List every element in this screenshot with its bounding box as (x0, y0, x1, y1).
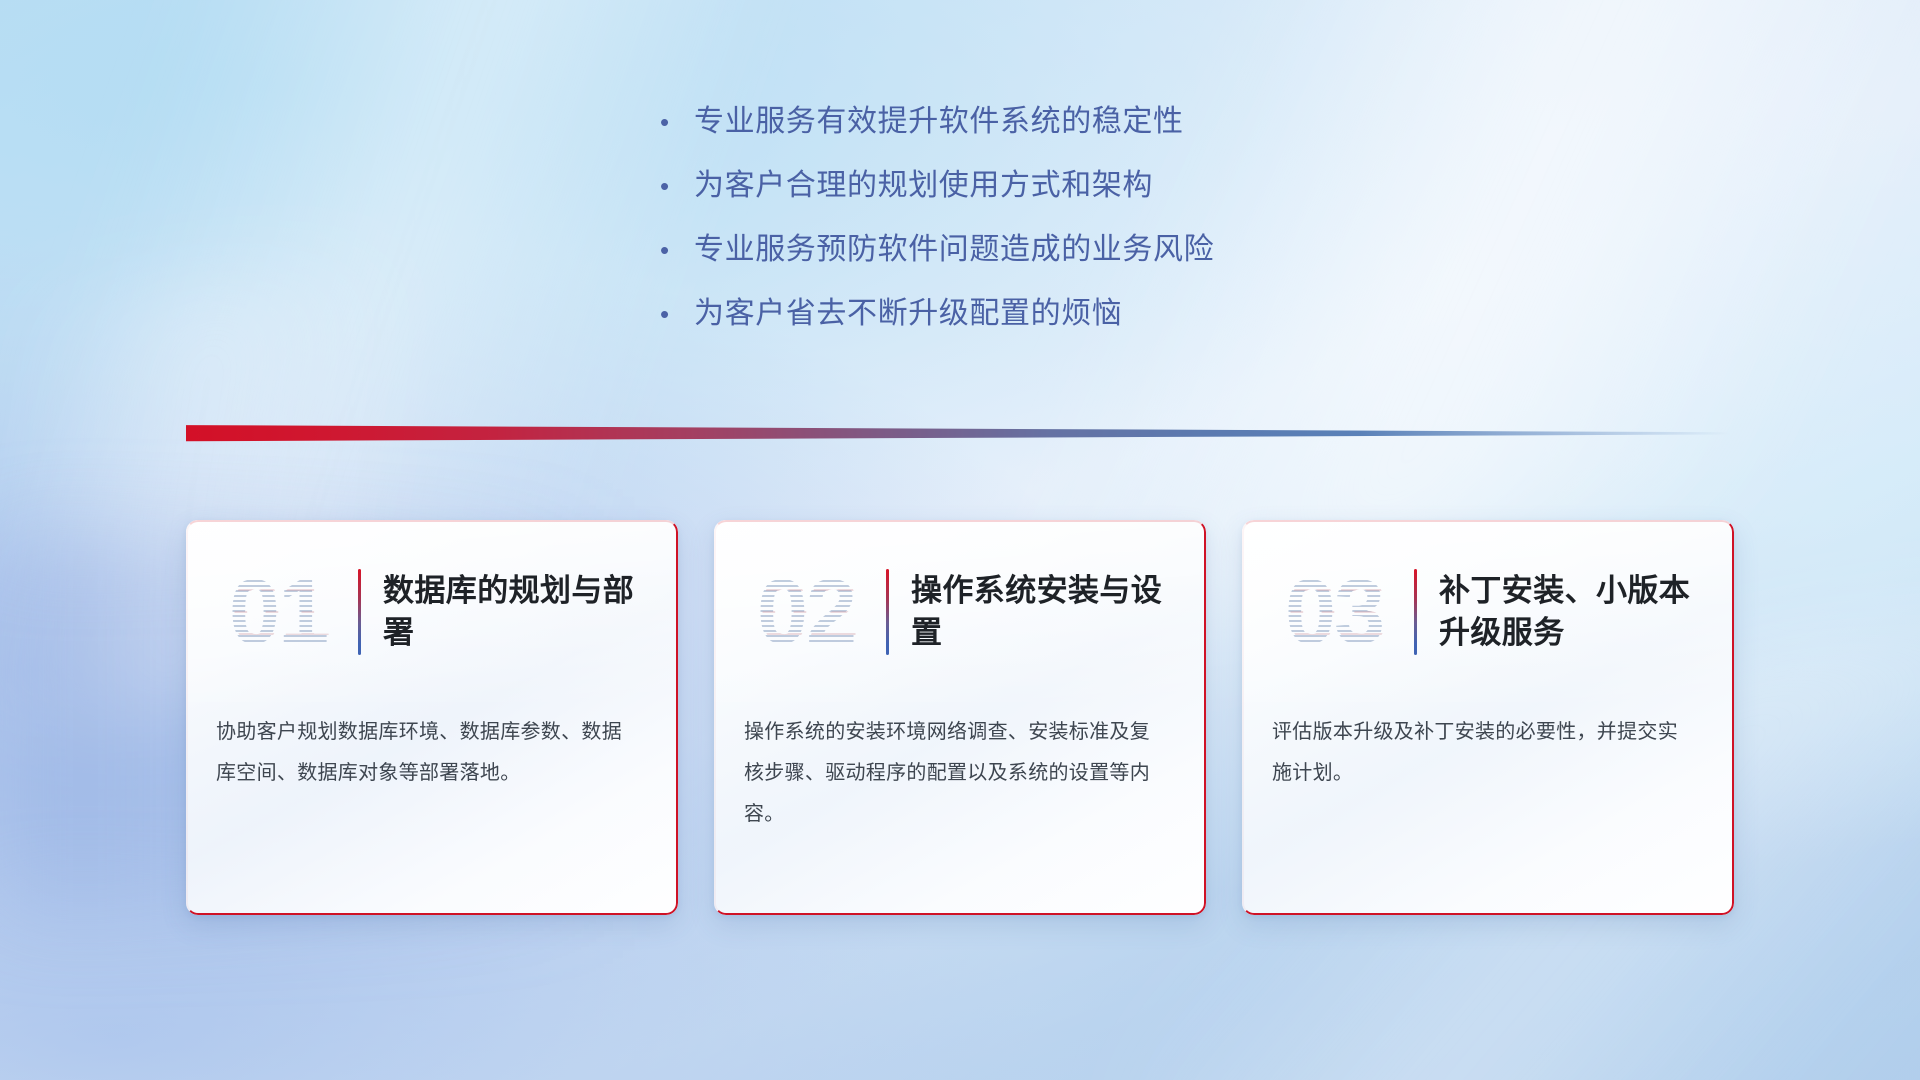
card-body-text: 协助客户规划数据库环境、数据库参数、数据库空间、数据库对象等部署落地。 (186, 670, 678, 794)
list-item: • 专业服务有效提升软件系统的稳定性 (660, 96, 1420, 160)
service-card-row: 01 01 数据库的规划与部署 协助客户规划数据库环境、数据库参数、数据库空间、… (186, 520, 1734, 920)
card-body-text: 评估版本升级及补丁安装的必要性，并提交实施计划。 (1242, 670, 1734, 794)
card-title: 补丁安装、小版本升级服务 (1439, 570, 1706, 654)
list-item: • 专业服务预防软件问题造成的业务风险 (660, 224, 1420, 288)
card-number-glyph-tint: 01 (214, 560, 346, 664)
card-title: 操作系统安装与设置 (911, 570, 1178, 654)
list-item: • 为客户省去不断升级配置的烦恼 (660, 288, 1420, 352)
card-number-glyph-tint: 02 (742, 560, 874, 664)
divider-wedge (186, 424, 1730, 442)
bullet-text: 专业服务预防软件问题造成的业务风险 (694, 224, 1214, 268)
card-header: 03 03 补丁安装、小版本升级服务 (1242, 520, 1734, 670)
bullet-text: 为客户合理的规划使用方式和架构 (694, 160, 1153, 204)
card-title: 数据库的规划与部署 (383, 570, 650, 654)
card-body-text: 操作系统的安装环境网络调查、安装标准及复核步骤、驱动程序的配置以及系统的设置等内… (714, 670, 1206, 835)
card-divider-bar (1414, 569, 1417, 655)
card-divider-bar (886, 569, 889, 655)
card-number-glyph-tint: 03 (1270, 560, 1402, 664)
service-card[interactable]: 03 03 补丁安装、小版本升级服务 评估版本升级及补丁安装的必要性，并提交实施… (1242, 520, 1734, 915)
card-number-decoration: 01 01 (212, 560, 344, 664)
bullet-text: 专业服务有效提升软件系统的稳定性 (694, 96, 1184, 140)
card-header: 02 02 操作系统安装与设置 (714, 520, 1206, 670)
section-divider (186, 424, 1730, 442)
card-number-decoration: 03 03 (1268, 560, 1400, 664)
slide-canvas: • 专业服务有效提升软件系统的稳定性 • 为客户合理的规划使用方式和架构 • 专… (0, 0, 1920, 1080)
service-card[interactable]: 01 01 数据库的规划与部署 协助客户规划数据库环境、数据库参数、数据库空间、… (186, 520, 678, 915)
list-item: • 为客户合理的规划使用方式和架构 (660, 160, 1420, 224)
benefits-bullet-list: • 专业服务有效提升软件系统的稳定性 • 为客户合理的规划使用方式和架构 • 专… (660, 96, 1420, 352)
bullet-dot-icon: • (660, 301, 694, 327)
card-divider-bar (358, 569, 361, 655)
card-header: 01 01 数据库的规划与部署 (186, 520, 678, 670)
bullet-dot-icon: • (660, 109, 694, 135)
bullet-dot-icon: • (660, 237, 694, 263)
bullet-dot-icon: • (660, 173, 694, 199)
service-card[interactable]: 02 02 操作系统安装与设置 操作系统的安装环境网络调查、安装标准及复核步骤、… (714, 520, 1206, 915)
card-number-decoration: 02 02 (740, 560, 872, 664)
bullet-text: 为客户省去不断升级配置的烦恼 (694, 288, 1122, 332)
